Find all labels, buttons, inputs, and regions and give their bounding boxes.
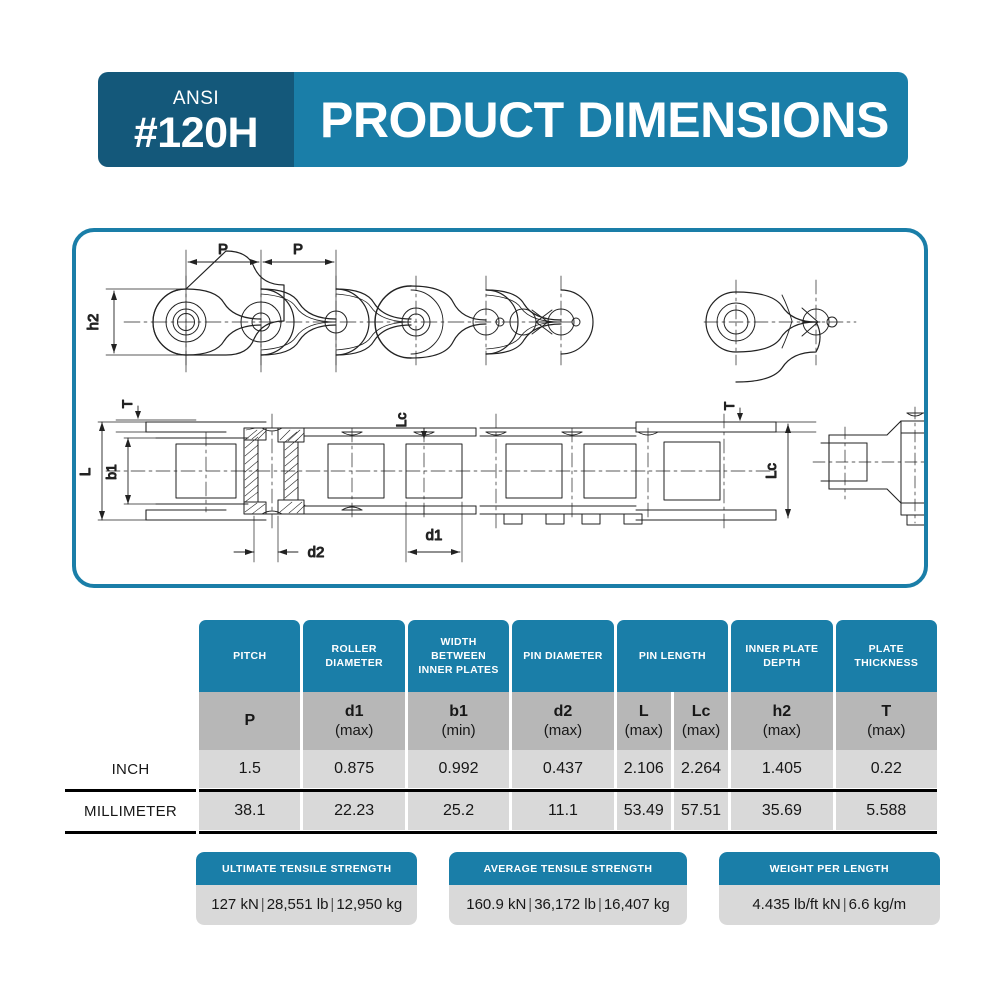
table-header-row: PITCH ROLLER DIAMETER WIDTH BETWEEN INNE… — [65, 620, 937, 692]
symbol-d2: d2 — [512, 702, 613, 722]
symbol-l: L — [617, 702, 671, 722]
weight-sep-1: | — [841, 896, 849, 913]
label-inner-width: b1 — [103, 464, 119, 480]
header-width-between-inner-plates: WIDTH BETWEEN INNER PLATES — [408, 620, 509, 692]
header-width-line2: BETWEEN — [431, 650, 486, 662]
qualifier-d1: (max) — [303, 722, 404, 741]
ansi-label: ANSI — [173, 89, 219, 110]
header-plate-thickness-line1: PLATE — [869, 643, 904, 655]
cell-mm-t: 5.588 — [836, 792, 937, 830]
stat-title-weight: WEIGHT PER LENGTH — [719, 852, 940, 885]
average-sep-2: | — [596, 896, 604, 913]
cell-inch-d2: 0.437 — [512, 750, 613, 788]
page-header: ANSI #120H PRODUCT DIMENSIONS — [98, 72, 908, 167]
label-cotter-length-right: Lc — [763, 463, 780, 479]
ultimate-sep-1: | — [259, 896, 267, 913]
cell-inch-l: 2.106 — [617, 750, 671, 788]
page-title: PRODUCT DIMENSIONS — [320, 95, 889, 145]
header-plate-thickness-line2: THICKNESS — [854, 657, 918, 669]
qualifier-b1: (min) — [408, 722, 509, 741]
header-width-line3: INNER PLATES — [418, 664, 498, 676]
cell-mm-l: 53.49 — [617, 792, 671, 830]
symbol-h2: h2 — [731, 702, 832, 722]
table-row: INCH 1.5 0.875 0.992 0.437 2.106 2.264 1… — [65, 750, 937, 788]
symbol-d1: d1 — [303, 702, 404, 722]
header-pitch: PITCH — [199, 620, 300, 692]
header-blank — [65, 620, 196, 692]
ultimate-kn: 127 kN — [211, 896, 259, 913]
label-plate-thickness-right: T — [721, 401, 737, 410]
stat-ultimate-tensile-strength: ULTIMATE TENSILE STRENGTH 127 kN|28,551 … — [196, 852, 417, 925]
row-label-inch: INCH — [65, 750, 196, 788]
cell-mm-h2: 35.69 — [731, 792, 832, 830]
qualifier-lc: (max) — [674, 722, 728, 741]
cell-inch-b1: 0.992 — [408, 750, 509, 788]
header-pin-length: PIN LENGTH — [617, 620, 729, 692]
label-roller-diameter: d1 — [426, 527, 443, 544]
header-inner-plate-depth-line1: INNER PLATE — [745, 643, 818, 655]
qualifier-h2: (max) — [731, 722, 832, 741]
title-bar: PRODUCT DIMENSIONS — [294, 72, 908, 167]
cell-inch-d1: 0.875 — [303, 750, 404, 788]
subheader-p: P — [199, 692, 300, 750]
label-plate-depth: h2 — [85, 314, 102, 331]
header-roller-diameter: ROLLER DIAMETER — [303, 620, 404, 692]
cell-mm-d2: 11.1 — [512, 792, 613, 830]
cell-inch-t: 0.22 — [836, 750, 937, 788]
weight-kgm: 6.6 kg/m — [849, 896, 907, 913]
ultimate-lb: 28,551 lb — [267, 896, 329, 913]
stat-value-average: 160.9 kN|36,172 lb|16,407 kg — [449, 885, 686, 925]
cell-mm-b1: 25.2 — [408, 792, 509, 830]
header-roller-diameter-line1: ROLLER — [332, 643, 377, 655]
header-plate-thickness: PLATE THICKNESS — [836, 620, 937, 692]
header-roller-diameter-line2: DIAMETER — [325, 657, 383, 669]
cell-mm-lc: 57.51 — [674, 792, 728, 830]
strength-stats: ULTIMATE TENSILE STRENGTH 127 kN|28,551 … — [196, 852, 940, 925]
subheader-l: L (max) — [617, 692, 671, 750]
header-width-line1: WIDTH — [440, 636, 476, 648]
symbol-lc: Lc — [674, 702, 728, 722]
ultimate-kg: 12,950 kg — [336, 896, 402, 913]
cell-inch-p: 1.5 — [199, 750, 300, 788]
label-pin-length: L — [77, 468, 94, 476]
average-lb: 36,172 lb — [534, 896, 596, 913]
weight-lbft: 4.435 lb/ft kN — [752, 896, 840, 913]
qualifier-t: (max) — [836, 722, 937, 741]
qualifier-l: (max) — [617, 722, 671, 741]
label-cotter-length-top: Lc — [393, 413, 409, 428]
bottom-rule-label — [65, 830, 196, 834]
product-code: #120H — [134, 111, 258, 156]
label-pitch-1: P — [218, 241, 228, 258]
subheader-d1: d1 (max) — [303, 692, 404, 750]
chain-dimension-drawing: P P h2 — [76, 232, 924, 584]
subheader-b1: b1 (min) — [408, 692, 509, 750]
symbol-p: P — [199, 711, 300, 731]
qualifier-d2: (max) — [512, 722, 613, 741]
cell-inch-lc: 2.264 — [674, 750, 728, 788]
label-plate-thickness-left: T — [119, 399, 135, 408]
symbol-b1: b1 — [408, 702, 509, 722]
cell-inch-h2: 1.405 — [731, 750, 832, 788]
header-inner-plate-depth-line2: DEPTH — [763, 657, 800, 669]
cell-mm-p: 38.1 — [199, 792, 300, 830]
stat-value-weight: 4.435 lb/ft kN|6.6 kg/m — [719, 885, 940, 925]
subheader-d2: d2 (max) — [512, 692, 613, 750]
ansi-standard-badge: ANSI #120H — [98, 72, 294, 167]
symbol-t: T — [836, 702, 937, 722]
table-subheader-row: P d1 (max) b1 (min) d2 (max) L (max) — [65, 692, 937, 750]
table-row: MILLIMETER 38.1 22.23 25.2 11.1 53.49 57… — [65, 792, 937, 830]
header-inner-plate-depth: INNER PLATE DEPTH — [731, 620, 832, 692]
header-pin-diameter: PIN DIAMETER — [512, 620, 613, 692]
dimensions-table: PITCH ROLLER DIAMETER WIDTH BETWEEN INNE… — [62, 620, 940, 834]
table-bottom-rule-row — [65, 830, 937, 834]
subheader-h2: h2 (max) — [731, 692, 832, 750]
average-kn: 160.9 kN — [466, 896, 526, 913]
product-dimensions-sheet: ANSI #120H PRODUCT DIMENSIONS — [0, 0, 1000, 1000]
subheader-blank — [65, 692, 196, 750]
stat-average-tensile-strength: AVERAGE TENSILE STRENGTH 160.9 kN|36,172… — [449, 852, 686, 925]
dimensions-table-wrap: PITCH ROLLER DIAMETER WIDTH BETWEEN INNE… — [62, 620, 940, 834]
stat-title-average: AVERAGE TENSILE STRENGTH — [449, 852, 686, 885]
cell-mm-d1: 22.23 — [303, 792, 404, 830]
stat-value-ultimate: 127 kN|28,551 lb|12,950 kg — [196, 885, 417, 925]
stat-weight-per-length: WEIGHT PER LENGTH 4.435 lb/ft kN|6.6 kg/… — [719, 852, 940, 925]
subheader-lc: Lc (max) — [674, 692, 728, 750]
bottom-rule-values — [199, 830, 937, 834]
average-kg: 16,407 kg — [604, 896, 670, 913]
technical-drawing-panel: P P h2 — [72, 228, 928, 588]
label-pin-diameter: d2 — [308, 544, 325, 561]
stat-title-ultimate: ULTIMATE TENSILE STRENGTH — [196, 852, 417, 885]
row-label-millimeter: MILLIMETER — [65, 792, 196, 830]
label-pitch-2: P — [293, 241, 303, 258]
subheader-t: T (max) — [836, 692, 937, 750]
